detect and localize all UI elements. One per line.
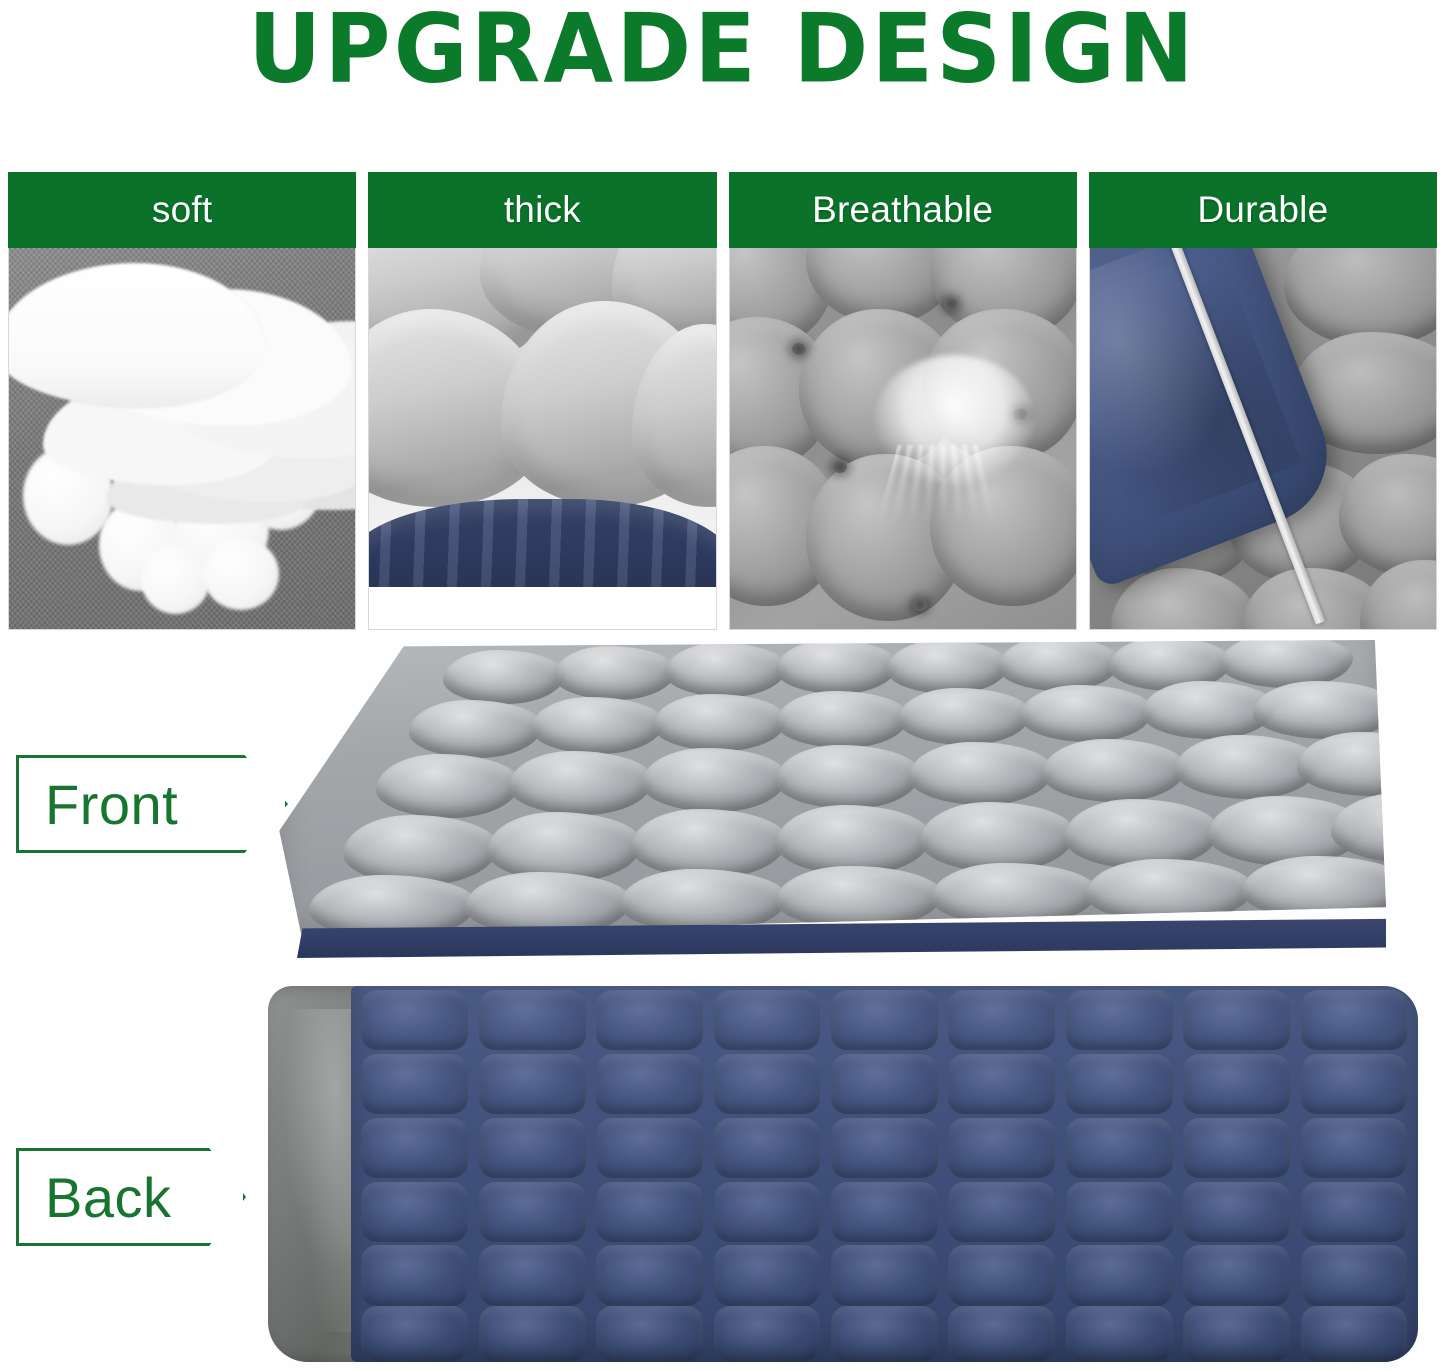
tufted-cell [665, 643, 787, 697]
tufted-cell [831, 1054, 938, 1114]
back-navy-surface [351, 986, 1418, 1362]
tufted-cell [1183, 1182, 1290, 1242]
tufted-cell [479, 990, 586, 1050]
page-title-container: UPGRADE DESIGN [0, 0, 1445, 100]
page-title: UPGRADE DESIGN [248, 0, 1197, 102]
tufted-cell [714, 1054, 821, 1114]
tufted-cell [596, 990, 703, 1050]
tufted-cell [714, 1118, 821, 1178]
tufted-cell [909, 742, 1053, 806]
tufted-cell [948, 990, 1055, 1050]
product-infographic: UPGRADE DESIGN soft thick [0, 0, 1445, 1370]
tufted-cell [831, 990, 938, 1050]
fiberfill-clump [23, 446, 113, 545]
tufted-cell [1301, 1245, 1408, 1305]
tufted-cell [1064, 799, 1219, 869]
tufted-cell [887, 640, 1009, 694]
tufted-cell [531, 697, 664, 754]
tufted-cell [479, 1245, 586, 1305]
feature-label-thick: thick [368, 172, 716, 248]
tufted-cell [931, 863, 1098, 927]
tufted-cell [948, 1182, 1055, 1242]
tufted-cell [487, 812, 642, 882]
tufted-cell [831, 1118, 938, 1178]
tufted-cell [376, 754, 520, 818]
tuft-knot [913, 599, 927, 611]
tufted-cell [1066, 1118, 1173, 1178]
front-tuft-grid [276, 640, 1386, 958]
tufted-cell [1066, 1054, 1173, 1114]
tufted-cell [920, 802, 1075, 872]
tufted-cell [509, 751, 653, 815]
tufted-cell [1242, 856, 1386, 920]
tufted-cell [1301, 1306, 1408, 1362]
tufted-cell [1360, 560, 1437, 630]
tufted-cell [361, 1054, 468, 1114]
view-tag-front-label: Front [45, 772, 178, 837]
tufted-cell [714, 990, 821, 1050]
tufted-cell [653, 694, 786, 751]
tufted-cell [1301, 990, 1408, 1050]
tufted-cell [1183, 990, 1290, 1050]
tufted-cell [948, 1245, 1055, 1305]
tufted-cell [776, 691, 909, 748]
tufted-cell [361, 1245, 468, 1305]
product-image-front [276, 640, 1386, 958]
tufted-cell [596, 1118, 703, 1178]
tufted-cell [361, 990, 468, 1050]
tufted-cell [596, 1245, 703, 1305]
tufted-cell [1253, 681, 1386, 738]
tufted-cell [1111, 568, 1256, 630]
feature-label-breathable: Breathable [729, 172, 1077, 248]
feature-panel-breathable: Breathable [729, 172, 1077, 630]
tufted-cell [1066, 990, 1173, 1050]
tufted-cell [409, 700, 542, 757]
view-tag-back: Back [16, 1148, 246, 1246]
tuft-knot [792, 343, 806, 355]
tufted-cell [596, 1306, 703, 1362]
tufted-cell [1066, 1306, 1173, 1362]
tufted-cell [776, 805, 931, 875]
tufted-cell [948, 1306, 1055, 1362]
feature-photo-soft [8, 248, 356, 630]
tufted-cell [831, 1306, 938, 1362]
tufted-cell [361, 1306, 468, 1362]
tufted-cell [1066, 1182, 1173, 1242]
tufted-cell [361, 1118, 468, 1178]
tufted-cell [343, 815, 498, 885]
feature-label-durable: Durable [1089, 172, 1437, 248]
tufted-cell [1297, 732, 1386, 796]
fiberfill-clump [141, 545, 210, 614]
tufted-cell [776, 866, 943, 930]
tufted-cell [443, 650, 565, 704]
tufted-cell [1183, 1054, 1290, 1114]
tufted-cell [1301, 1118, 1408, 1178]
view-tag-front: Front [16, 755, 288, 853]
tufted-cell [948, 1054, 1055, 1114]
tuft-knot [944, 298, 958, 310]
tufted-cell [714, 1306, 821, 1362]
tufted-cell [1042, 739, 1186, 803]
tufted-cell [776, 745, 920, 809]
photo-floor [369, 587, 715, 629]
feature-panel-soft: soft [8, 172, 356, 630]
tufted-cell [714, 1182, 821, 1242]
tufted-cell [479, 1182, 586, 1242]
view-tag-back-label: Back [45, 1165, 172, 1230]
tufted-cell [1301, 1054, 1408, 1114]
tufted-cell [831, 1245, 938, 1305]
tufted-cell [479, 1306, 586, 1362]
tufted-cell [1183, 1245, 1290, 1305]
tufted-cell [1020, 685, 1153, 742]
tufted-cell [631, 809, 786, 879]
feature-label-soft: soft [8, 172, 356, 248]
tufted-cell [596, 1182, 703, 1242]
fiberfill-clump [238, 431, 325, 530]
airflow-rays [876, 444, 1006, 525]
tufted-cell [361, 1182, 468, 1242]
tufted-cell [831, 1182, 938, 1242]
tufted-cell [479, 1118, 586, 1178]
tufted-cell [479, 1054, 586, 1114]
tufted-cell [596, 1054, 703, 1114]
tufted-cell [642, 748, 786, 812]
tufted-cell [714, 1245, 821, 1305]
product-image-back [268, 986, 1418, 1362]
tufted-cell [554, 646, 676, 700]
feature-panel-strip: soft thick [8, 172, 1437, 630]
feature-panel-thick: thick [368, 172, 716, 630]
feature-panel-durable: Durable [1089, 172, 1437, 630]
tufted-cell [1066, 1245, 1173, 1305]
tufted-cell [998, 640, 1120, 691]
tufted-cell [1183, 1306, 1290, 1362]
fiberfill-clump [203, 538, 279, 610]
tufted-cell [1183, 1118, 1290, 1178]
feature-photo-thick [368, 248, 716, 630]
feature-photo-breathable [729, 248, 1077, 630]
tufted-cell [1301, 1182, 1408, 1242]
tufted-cell [898, 688, 1031, 745]
tufted-cell [1086, 859, 1253, 923]
tufted-cell [948, 1118, 1055, 1178]
tufted-cell [620, 869, 787, 933]
feature-photo-durable [1089, 248, 1437, 630]
tufted-cell [776, 640, 898, 694]
